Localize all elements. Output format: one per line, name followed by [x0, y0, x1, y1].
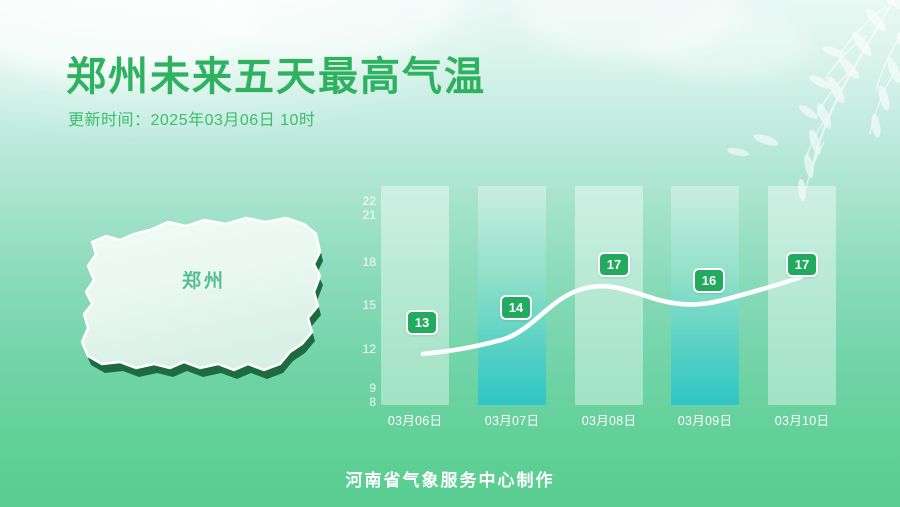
value-badge: 13: [406, 310, 438, 335]
y-tick: 12: [340, 343, 376, 355]
value-badge: 17: [598, 252, 630, 277]
y-axis: 22 21 18 15 12 9 8: [340, 180, 376, 405]
y-tick: 22: [340, 195, 376, 207]
cloud-decoration-4: [640, 10, 810, 80]
zhengzhou-map: 郑州: [58, 192, 350, 392]
y-tick: 18: [340, 256, 376, 268]
weather-infographic: 郑州未来五天最高气温 更新时间：2025年03月06日 10时 郑州 22 21…: [0, 0, 900, 507]
y-tick: 8: [340, 396, 376, 408]
x-tick: 03月07日: [478, 410, 546, 429]
value-badge: 16: [693, 268, 725, 293]
x-tick: 03月08日: [575, 410, 643, 429]
x-tick: 03月09日: [671, 410, 739, 429]
x-tick: 03月10日: [768, 410, 836, 429]
temperature-chart: 22 21 18 15 12 9 8 13 14 17 16 17 03月06日…: [340, 180, 860, 430]
temperature-line: [381, 180, 841, 410]
y-tick: 9: [340, 382, 376, 394]
willow-branch-icon: [716, 0, 900, 205]
page-title: 郑州未来五天最高气温: [66, 44, 486, 102]
x-axis: 03月06日 03月07日 03月08日 03月09日 03月10日: [381, 410, 841, 432]
value-badge: 14: [500, 295, 532, 320]
y-tick: 15: [340, 299, 376, 311]
x-tick: 03月06日: [381, 410, 449, 429]
y-tick: 21: [340, 209, 376, 221]
map-city-label: 郑州: [58, 266, 350, 293]
value-badge: 17: [786, 252, 818, 277]
footer-credit: 河南省气象服务中心制作: [0, 466, 900, 491]
update-time-text: 更新时间：2025年03月06日 10时: [68, 106, 315, 130]
cloud-decoration-3: [520, 0, 740, 60]
